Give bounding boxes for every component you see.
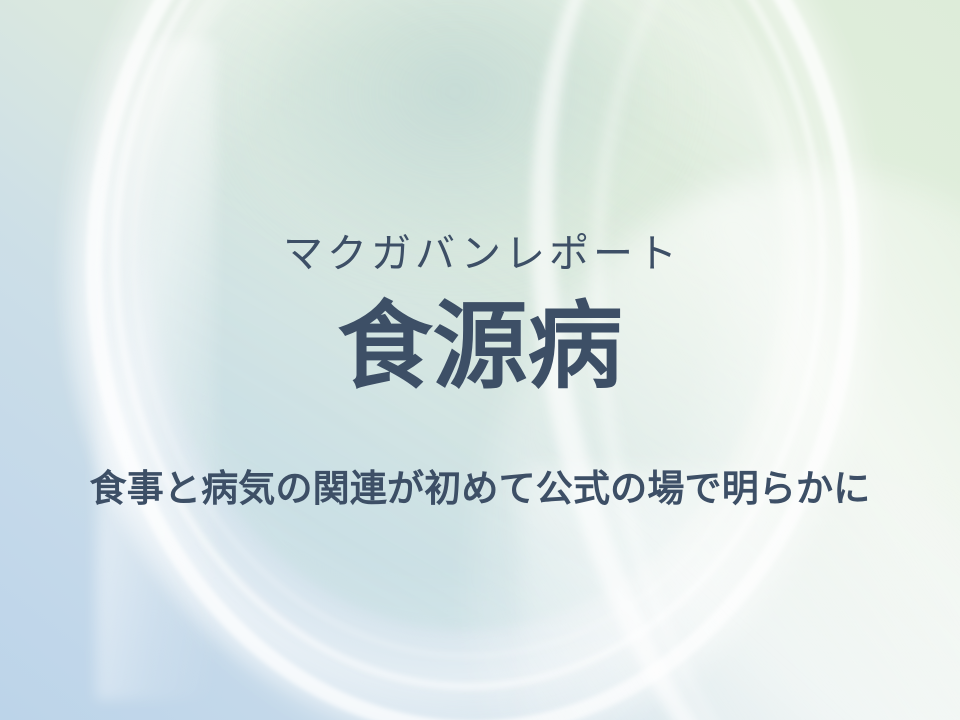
slide-subtitle: 食事と病気の関連が初めて公式の場で明らかに xyxy=(0,466,960,512)
slide-text-content: マクガバンレポート 食源病 食事と病気の関連が初めて公式の場で明らかに xyxy=(0,0,960,720)
title-slide: マクガバンレポート 食源病 食事と病気の関連が初めて公式の場で明らかに xyxy=(0,0,960,720)
slide-eyebrow: マクガバンレポート xyxy=(0,232,960,276)
slide-title: 食源病 xyxy=(0,300,960,395)
